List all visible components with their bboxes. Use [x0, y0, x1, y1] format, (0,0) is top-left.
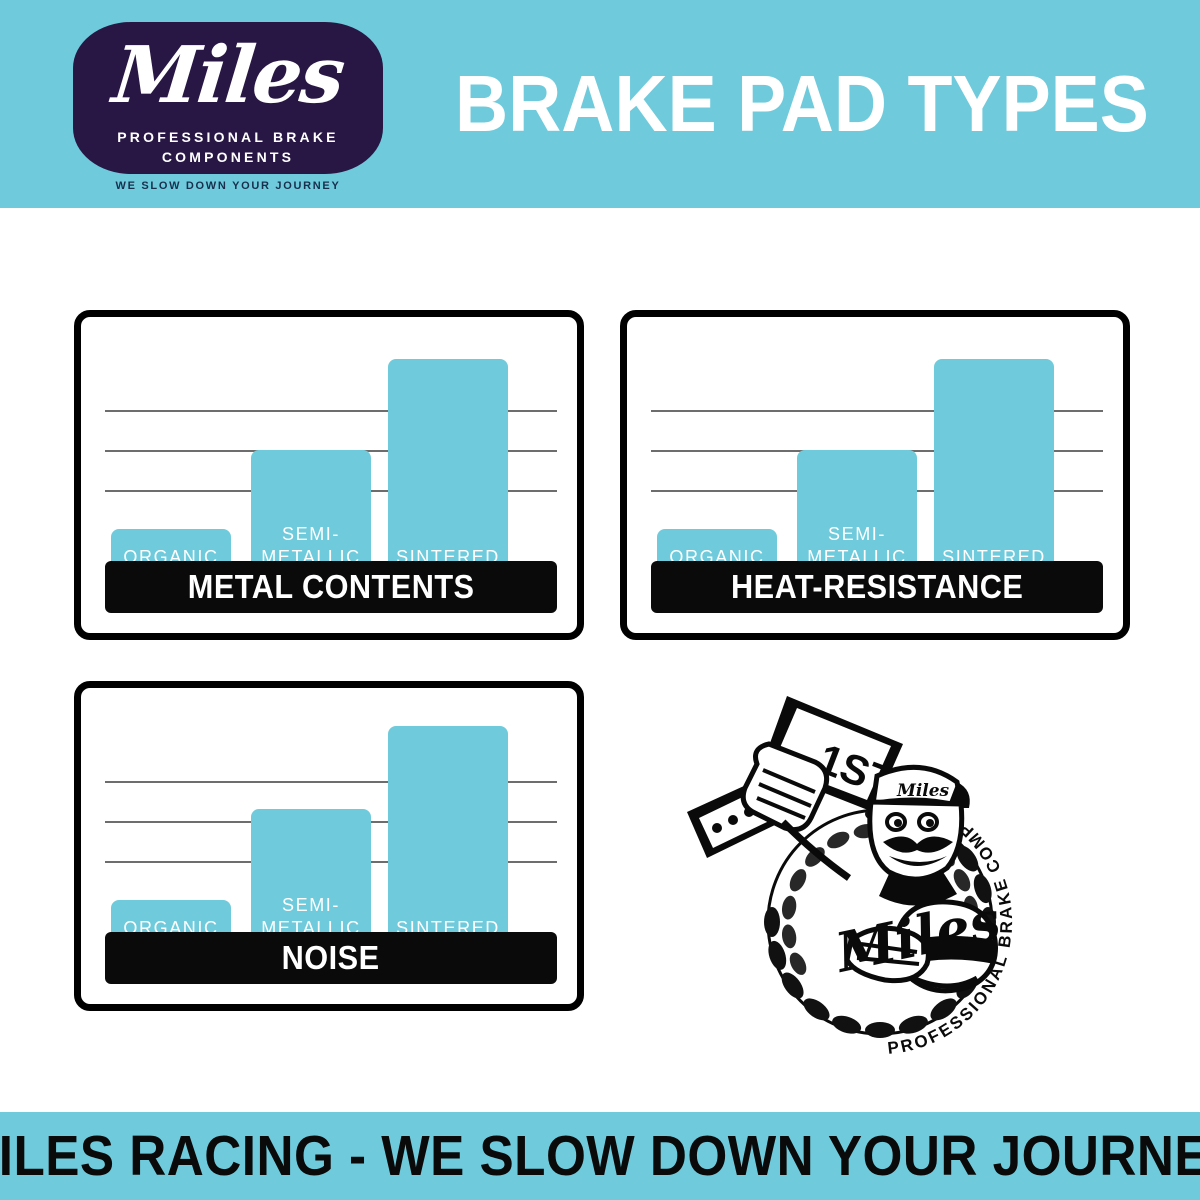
chart-plot-area: ORGANICSEMI- METALLICSINTEREDMETAL CONTE… — [81, 317, 577, 633]
chart-bar: SINTERED — [934, 359, 1054, 583]
mascot-emblem: PROFESSIONAL BRAKE COMPONENTS — [665, 672, 1095, 1072]
chart-bar: SINTERED — [388, 726, 508, 954]
chart-plot-area: ORGANICSEMI- METALLICSINTEREDHEAT-RESIST… — [627, 317, 1123, 633]
mascot-line-art-icon: PROFESSIONAL BRAKE COMPONENTS — [665, 672, 1095, 1072]
chart-plot-area: ORGANICSEMI- METALLICSINTEREDNOISE — [81, 688, 577, 1004]
chart-title: NOISE — [282, 939, 380, 977]
logo-tagline: WE SLOW DOWN YOUR JOURNEY — [73, 180, 383, 192]
footer-band: MILES RACING - WE SLOW DOWN YOUR JOURNEY — [0, 1112, 1200, 1200]
chart-title-banner: HEAT-RESISTANCE — [651, 561, 1103, 613]
chart-title: METAL CONTENTS — [188, 568, 475, 606]
header-band: Miles PROFESSIONAL BRAKE COMPONENTS WE S… — [0, 0, 1200, 208]
chart-card-metal-contents: ORGANICSEMI- METALLICSINTEREDMETAL CONTE… — [74, 310, 584, 640]
infographic-page: Miles PROFESSIONAL BRAKE COMPONENTS WE S… — [0, 0, 1200, 1200]
brand-logo: Miles PROFESSIONAL BRAKE COMPONENTS — [73, 22, 383, 174]
logo-wordmark: Miles — [73, 24, 383, 128]
chart-title-banner: METAL CONTENTS — [105, 561, 557, 613]
chart-title-banner: NOISE — [105, 932, 557, 984]
logo-subtitle-line1: PROFESSIONAL BRAKE — [73, 129, 383, 145]
chart-bar: SINTERED — [388, 359, 508, 583]
logo-subtitle-line2: COMPONENTS — [73, 149, 383, 165]
page-title: BRAKE PAD TYPES — [455, 52, 1099, 156]
chart-card-noise: ORGANICSEMI- METALLICSINTEREDNOISE — [74, 681, 584, 1011]
footer-slogan: MILES RACING - WE SLOW DOWN YOUR JOURNEY — [0, 1123, 1200, 1189]
chart-title: HEAT-RESISTANCE — [731, 568, 1023, 606]
svg-text:Miles: Miles — [896, 781, 950, 801]
chart-card-heat-resistance: ORGANICSEMI- METALLICSINTEREDHEAT-RESIST… — [620, 310, 1130, 640]
